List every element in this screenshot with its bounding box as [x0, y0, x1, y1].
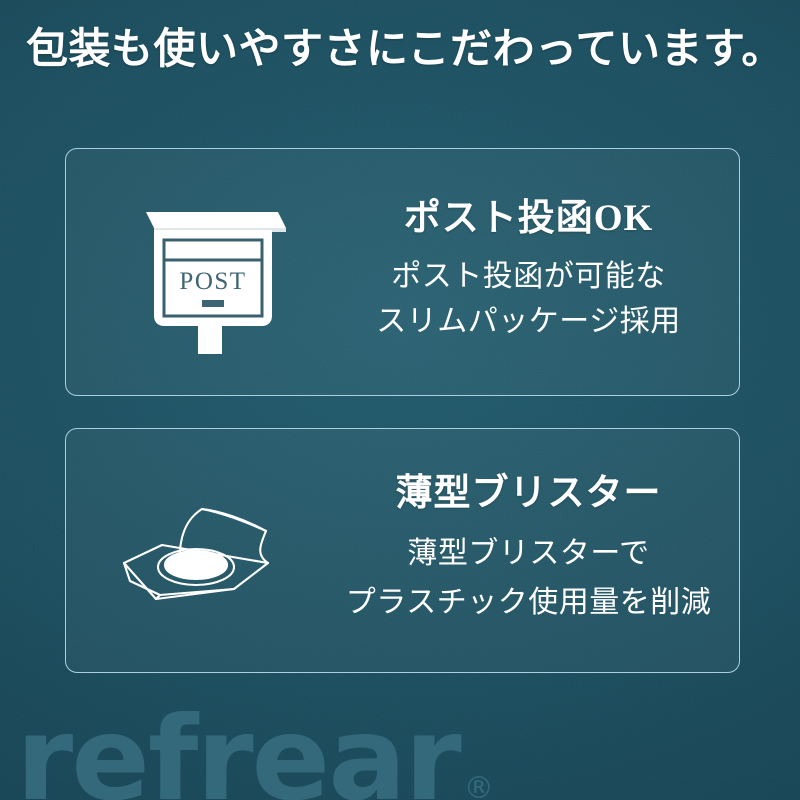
- mailbox-post-icon: POST: [88, 149, 333, 395]
- feature-card-blister-text: 薄型ブリスター 薄型ブリスターで プラスチック使用量を削減: [316, 429, 741, 672]
- feature-card-blister-title: 薄型ブリスター: [396, 474, 662, 515]
- feature-card-blister-body-line-1: 薄型ブリスターで: [346, 530, 711, 579]
- mailbox-post-label: POST: [179, 268, 246, 295]
- poster-canvas: 包装も使いやすさにこだわっています。 POST: [0, 0, 800, 800]
- feature-card-post-body-line-2: スリムパッケージ採用: [376, 299, 680, 345]
- registered-trademark-icon: ®: [464, 774, 494, 800]
- page-headline: 包装も使いやすさにこだわっています。: [26, 24, 786, 77]
- feature-card-post: POST ポスト投函OK ポスト投函が可能な スリムパッケージ採用: [65, 148, 740, 396]
- feature-card-post-body: ポスト投函が可能な スリムパッケージ採用: [376, 254, 680, 345]
- feature-card-post-title: ポスト投函OK: [404, 199, 654, 240]
- feature-card-blister-body: 薄型ブリスターで プラスチック使用量を削減: [346, 530, 711, 627]
- thin-blister-pack-icon: [88, 429, 333, 672]
- feature-card-blister-body-line-2: プラスチック使用量を削減: [346, 579, 711, 628]
- brand-watermark: refrear ®: [16, 707, 494, 800]
- feature-card-post-body-line-1: ポスト投函が可能な: [376, 254, 680, 300]
- feature-card-blister: 薄型ブリスター 薄型ブリスターで プラスチック使用量を削減: [65, 428, 740, 673]
- background-grain-texture: [0, 0, 800, 800]
- brand-logo-text: refrear: [16, 707, 460, 800]
- feature-card-post-text: ポスト投函OK ポスト投函が可能な スリムパッケージ採用: [316, 149, 741, 395]
